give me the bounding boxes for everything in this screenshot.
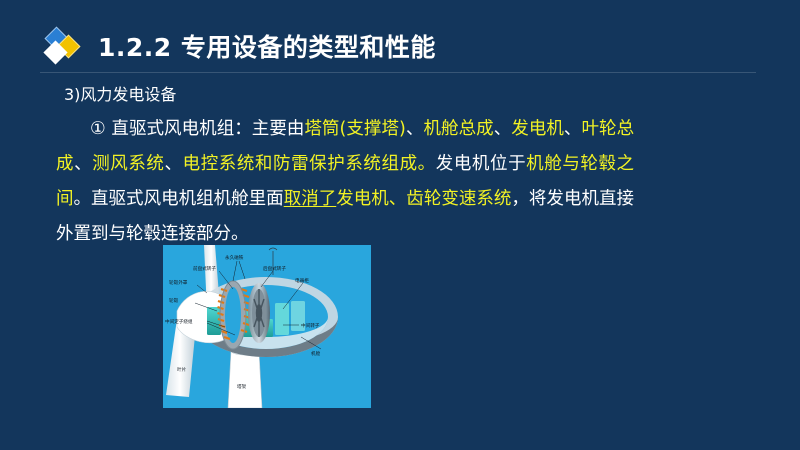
text-run-11: 、 xyxy=(165,154,183,174)
svg-text:叶片: 叶片 xyxy=(177,366,187,373)
heading-divider xyxy=(40,72,756,73)
text-run-20: 。 xyxy=(231,224,249,244)
svg-text:轮毂: 轮毂 xyxy=(169,297,179,304)
slide-heading: 1.2.2 专用设备的类型和性能 xyxy=(44,26,436,66)
svg-text:前盘式转子: 前盘式转子 xyxy=(193,265,216,272)
presentation-slide: 1.2.2 专用设备的类型和性能 3)风力发电设备 ① 直驱式风电机组：主要由塔… xyxy=(0,0,800,450)
text-run-5: 、 xyxy=(494,119,512,139)
text-run-12: 电控系统和防雷保护系统 xyxy=(183,154,382,174)
svg-text:永久磁铁: 永久磁铁 xyxy=(225,254,244,261)
wind-turbine-figure: 永久磁铁 前盘式转子 后盘式转子 轮毂外罩 轮毂 中间定子绕组 电器柜 中间转子… xyxy=(163,245,371,408)
text-run-9: 、 xyxy=(74,154,92,174)
text-run-1: 直驱式风电机组：主要由 xyxy=(106,119,305,139)
text-run-14: 发电机位于 xyxy=(436,154,526,174)
svg-text:中间转子: 中间转子 xyxy=(301,322,320,329)
section-subheading: 3)风力发电设备 xyxy=(64,84,176,106)
text-run-2: 塔筒(支撑塔) xyxy=(304,119,405,139)
text-run-18: 发电机、齿轮变速系统 xyxy=(336,189,511,209)
text-run-0: ① xyxy=(90,119,106,139)
text-run-4: 机舱总成 xyxy=(424,119,494,139)
body-paragraph: ① 直驱式风电机组：主要由塔筒(支撑塔)、机舱总成、发电机、叶轮总成、测风系统、… xyxy=(56,112,634,252)
svg-text:塔架: 塔架 xyxy=(237,383,247,390)
page-title: 1.2.2 专用设备的类型和性能 xyxy=(98,28,436,64)
text-run-13: 组成。 xyxy=(382,154,436,174)
svg-text:轮毂外罩: 轮毂外罩 xyxy=(169,279,188,286)
three-diamond-bullet-icon xyxy=(44,27,90,65)
text-run-7: 、 xyxy=(564,119,582,139)
svg-text:电器柜: 电器柜 xyxy=(295,277,309,284)
text-run-6: 发电机 xyxy=(511,119,564,139)
text-run-17: 取消了 xyxy=(284,189,337,209)
svg-text:后盘式转子: 后盘式转子 xyxy=(263,265,286,272)
svg-text:中间定子绕组: 中间定子绕组 xyxy=(165,318,193,325)
text-run-16: 。直驱式风电机组机舱里面 xyxy=(74,189,284,209)
text-run-3: 、 xyxy=(406,119,424,139)
svg-text:机舱: 机舱 xyxy=(311,350,321,357)
text-run-10: 测风系统 xyxy=(92,154,164,174)
